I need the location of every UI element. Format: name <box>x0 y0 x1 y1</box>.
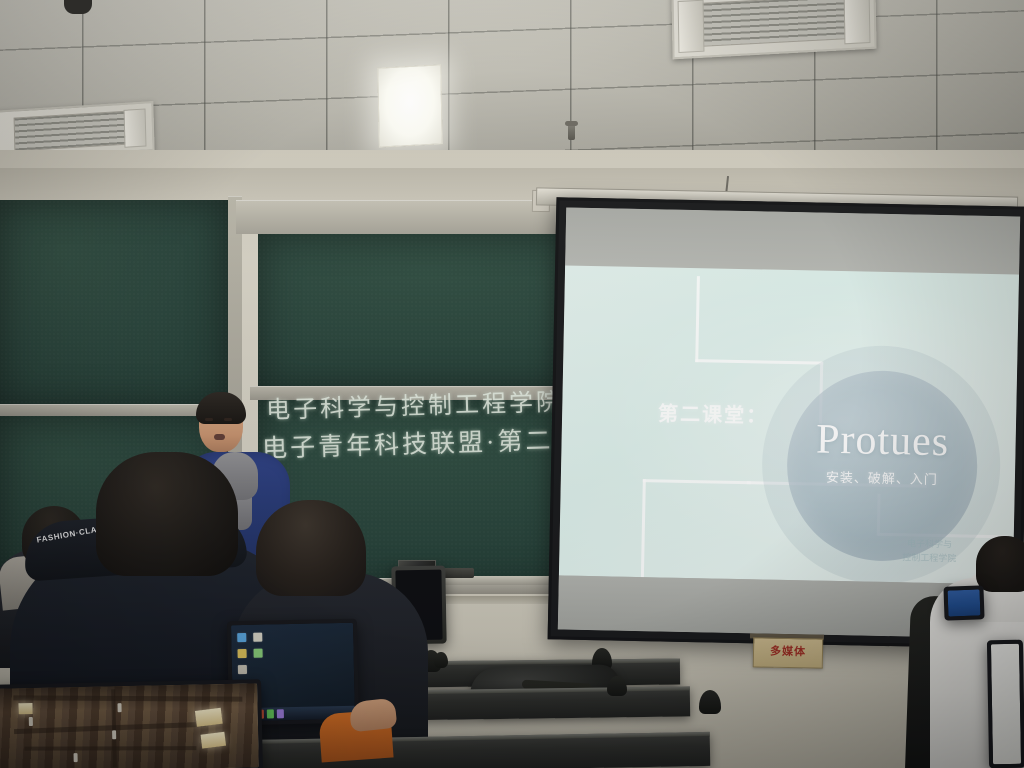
photo-post <box>112 690 118 767</box>
light-panel-icon <box>377 64 442 147</box>
ac-grill <box>14 111 130 151</box>
laptop-right-display <box>991 644 1021 764</box>
photo-window <box>18 703 32 714</box>
desktop-icon[interactable] <box>254 649 263 658</box>
slide-subtitle: 安装、破解、入门 <box>787 466 977 489</box>
laptop-right-large[interactable] <box>987 640 1024 768</box>
photo-window <box>194 708 222 727</box>
slide-decor-line <box>640 479 645 584</box>
presentation-slide: 第二课堂： Protues 安装、破解、入门 电子科学与 控制工程学院 <box>559 265 1019 584</box>
monitor-stand <box>434 652 448 668</box>
slide-decor-line <box>695 359 823 365</box>
laptop-right-small[interactable] <box>943 585 984 620</box>
slide-decor-line <box>643 479 751 484</box>
photo-figure <box>29 717 33 726</box>
photo-beam <box>13 695 242 701</box>
projection-screen-surface: 第二课堂： Protues 安装、破解、入门 电子科学与 控制工程学院 <box>558 207 1020 638</box>
laptop-right-display <box>948 589 981 616</box>
desktop-icon[interactable] <box>238 665 247 674</box>
ac-vane-left <box>678 0 705 53</box>
presenter-eye <box>205 418 213 421</box>
photo-beam <box>14 721 206 733</box>
laptop-bezel <box>0 683 259 768</box>
taskbar-icon[interactable] <box>277 709 284 718</box>
presenter-mouth <box>214 434 225 440</box>
ac-vane-right <box>124 108 146 148</box>
desktop-icon[interactable] <box>238 649 247 658</box>
photo-figure <box>117 703 121 712</box>
chalkboard-panel <box>0 200 228 408</box>
laptop-bezel <box>991 644 1021 764</box>
chalkboard-frame <box>236 200 566 234</box>
student-laptop[interactable] <box>0 679 263 768</box>
photo-beam <box>24 747 196 752</box>
laptop-wallpaper-photo <box>0 683 259 768</box>
projection-screen[interactable]: 第二课堂： Protues 安装、破解、入门 电子科学与 控制工程学院 <box>548 197 1024 648</box>
foreground-student-head <box>96 452 238 576</box>
ac-vane-right <box>844 0 871 44</box>
desktop-icon[interactable] <box>237 633 246 642</box>
classroom-photo: 电子科学与控制工程学院 电子青年科技联盟·第二课堂 第二课堂： Pro <box>0 0 1024 768</box>
taskbar-icon[interactable] <box>267 709 274 718</box>
ac-grill <box>702 0 847 47</box>
right-student-head <box>976 536 1024 592</box>
desktop-icon[interactable] <box>253 633 262 642</box>
presenter-eye <box>224 418 232 421</box>
screen-top-margin <box>565 207 1020 274</box>
chalkboard-frame <box>0 404 228 416</box>
slide-decor-line <box>695 276 700 362</box>
sprinkler-icon <box>568 124 575 140</box>
laptop-bezel <box>948 589 981 616</box>
multimedia-sign: 多媒体 <box>753 637 824 668</box>
slide-kicker-text: 第二课堂： <box>658 397 769 428</box>
photo-window <box>200 731 226 748</box>
ceiling-fixture-icon <box>64 0 92 14</box>
second-student-head <box>256 500 366 596</box>
photo-figure <box>74 753 78 762</box>
multimedia-sign-text: 多媒体 <box>754 642 822 659</box>
slide-title: Protues <box>787 418 978 464</box>
photo-figure <box>112 730 116 739</box>
